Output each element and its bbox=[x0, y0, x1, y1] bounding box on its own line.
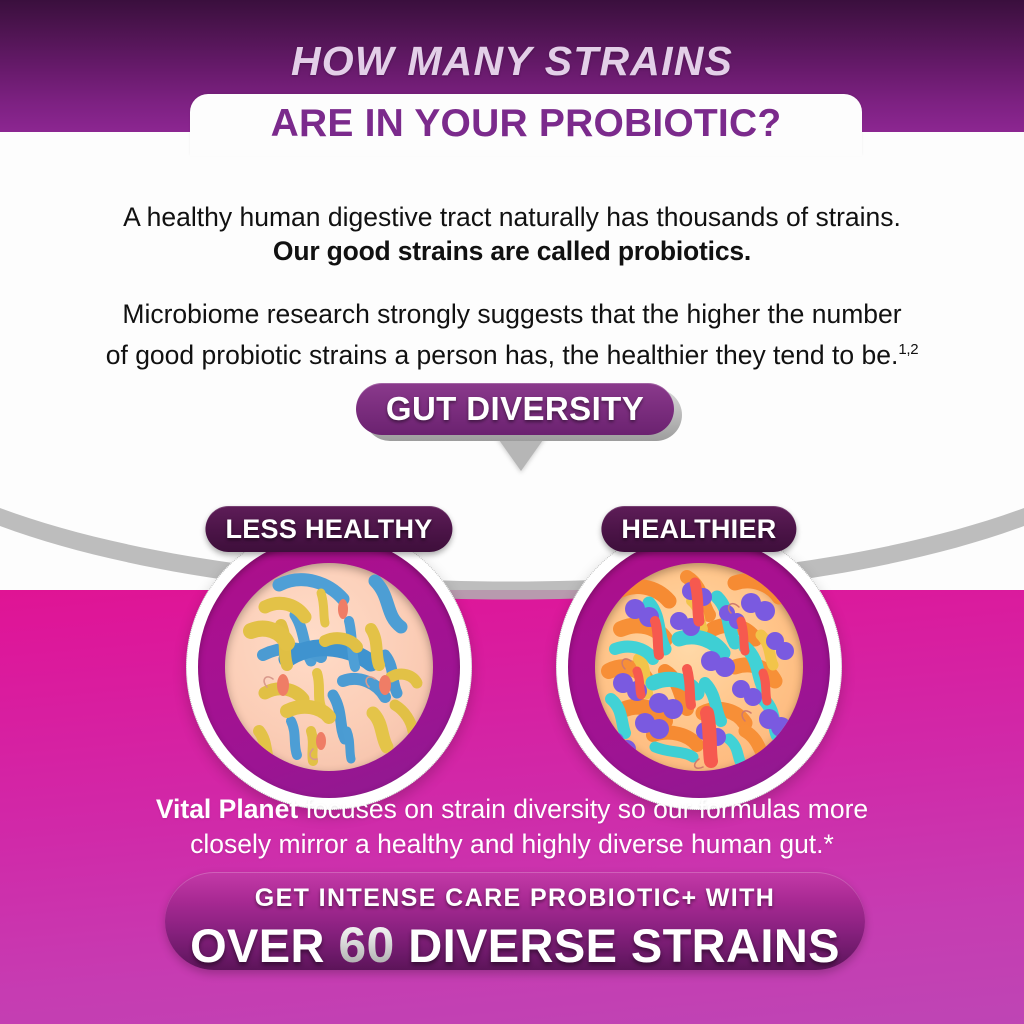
cta-prefix: OVER bbox=[190, 919, 338, 970]
badge-pill: GUT DIVERSITY bbox=[356, 383, 674, 435]
brand-name: Vital Planet bbox=[156, 794, 298, 824]
cta-banner[interactable]: GET INTENSE CARE PROBIOTIC+ WITH OVER 60… bbox=[165, 872, 865, 970]
healthier-label: HEALTHIER bbox=[621, 514, 776, 545]
bottom-line-1: Vital Planet focuses on strain diversity… bbox=[0, 792, 1024, 827]
header-kicker: HOW MANY STRAINS bbox=[0, 38, 1024, 85]
cta-suffix: DIVERSE STRAINS bbox=[395, 919, 840, 970]
cta-subheadline: GET INTENSE CARE PROBIOTIC+ WITH bbox=[165, 884, 865, 913]
cta-number: 60 bbox=[338, 917, 394, 970]
healthier-label-pill: HEALTHIER bbox=[601, 506, 796, 552]
less-healthy-label: LESS HEALTHY bbox=[225, 514, 432, 545]
intro-line-4: of good probiotic strains a person has, … bbox=[106, 340, 899, 370]
bottom-line-2: closely mirror a healthy and highly dive… bbox=[0, 827, 1024, 862]
intro-line-3: Microbiome research strongly suggests th… bbox=[0, 296, 1024, 332]
less-healthy-label-pill: LESS HEALTHY bbox=[205, 506, 452, 552]
page-title: ARE IN YOUR PROBIOTIC? bbox=[190, 102, 862, 146]
infographic-canvas: ARE IN YOUR PROBIOTIC? HOW MANY STRAINS … bbox=[0, 0, 1024, 1024]
intro-paragraph-2: Microbiome research strongly suggests th… bbox=[0, 296, 1024, 373]
bottom-line-1-rest: focuses on strain diversity so our formu… bbox=[298, 794, 868, 824]
bottom-copy: Vital Planet focuses on strain diversity… bbox=[0, 792, 1024, 862]
gut-diversity-badge: GUT DIVERSITY bbox=[356, 383, 686, 488]
cta-headline: OVER 60 DIVERSE STRAINS bbox=[165, 916, 865, 970]
intro-line-4-wrap: of good probiotic strains a person has, … bbox=[0, 332, 1024, 373]
footnote-marker: 1,2 bbox=[898, 341, 918, 358]
less-healthy-circle: LESS HEALTHY bbox=[186, 524, 472, 810]
intro-paragraph-1: A healthy human digestive tract naturall… bbox=[0, 200, 1024, 268]
badge-label: GUT DIVERSITY bbox=[386, 390, 644, 428]
petri-dish-healthier bbox=[595, 563, 803, 771]
title-plate: ARE IN YOUR PROBIOTIC? bbox=[190, 94, 862, 156]
healthier-circle: HEALTHIER bbox=[556, 524, 842, 810]
intro-line-1: A healthy human digestive tract naturall… bbox=[0, 200, 1024, 234]
petri-dish-less-healthy bbox=[225, 563, 433, 771]
intro-line-2: Our good strains are called probiotics. bbox=[0, 234, 1024, 268]
